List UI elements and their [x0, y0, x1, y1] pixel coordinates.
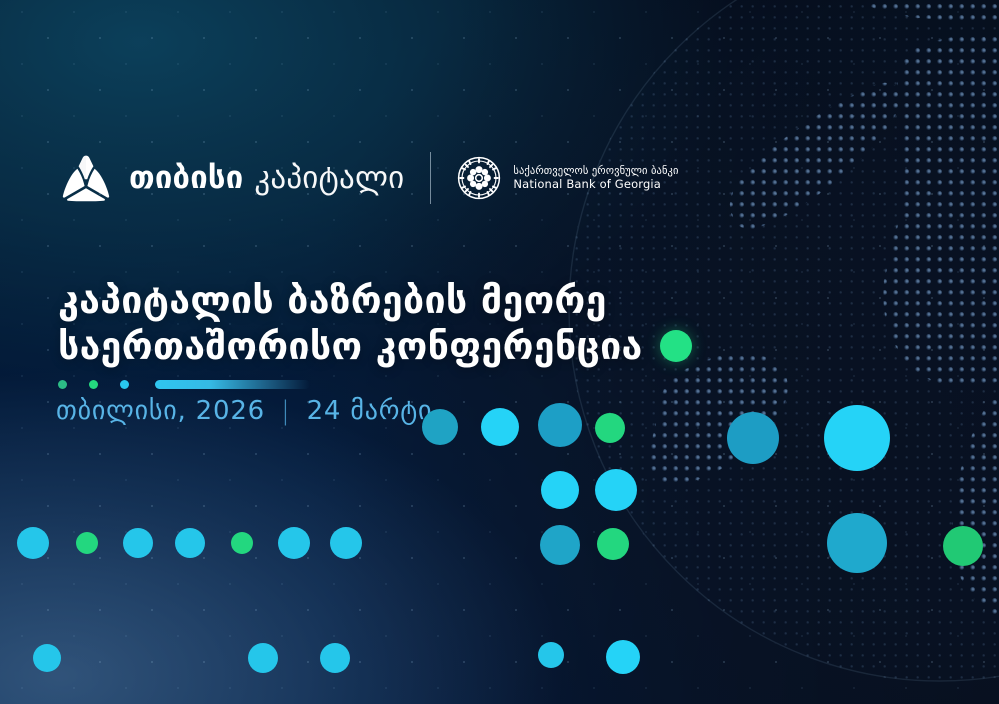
headline-line-2: საერთაშორისო კონფერენცია	[58, 323, 643, 369]
accent-rule	[58, 380, 310, 389]
event-day-month: 24 მარტი	[307, 396, 433, 426]
tbc-wordmark-bold: თიბისი	[129, 163, 243, 194]
tbc-wordmark-light: კაპიტალი	[254, 163, 404, 194]
event-date-separator: |	[281, 396, 291, 426]
national-bank-of-georgia-logo[interactable]: საქართველოს ეროვნული ბანკი National Bank…	[457, 156, 678, 200]
headline-block: კაპიტალის ბაზრების მეორე საერთაშორისო კო…	[58, 277, 692, 369]
logo-lockup-row: თიბისი კაპიტალი	[60, 152, 679, 204]
event-date-line: თბილისი, 2026 | 24 მარტი	[56, 396, 432, 426]
logo-divider	[430, 152, 431, 204]
accent-dot-3	[120, 380, 129, 389]
tbc-capital-wordmark: თიბისი კაპიტალი	[129, 163, 404, 194]
accent-dot-2	[89, 380, 98, 389]
conference-banner: თიბისი კაპიტალი	[0, 0, 999, 704]
accent-gradient-bar	[155, 380, 310, 389]
event-city-year: თბილისი, 2026	[56, 396, 265, 426]
nbg-name-georgian: საქართველოს ეროვნული ბანკი	[513, 165, 678, 178]
headline-line-1: კაპიტალის ბაზრების მეორე	[58, 277, 607, 323]
nbg-seal-mark	[457, 156, 501, 200]
nbg-name-english: National Bank of Georgia	[513, 177, 678, 191]
accent-dot-1	[58, 380, 67, 389]
headline-line-1-row: კაპიტალის ბაზრების მეორე	[58, 277, 692, 323]
nbg-name-block: საქართველოს ეროვნული ბანკი National Bank…	[513, 165, 678, 192]
headline-line-2-row: საერთაშორისო კონფერენცია	[58, 323, 692, 369]
headline-green-dot-icon	[660, 330, 692, 362]
tbc-triangle-mark	[60, 153, 112, 203]
tbc-capital-logo[interactable]: თიბისი კაპიტალი	[60, 153, 404, 203]
